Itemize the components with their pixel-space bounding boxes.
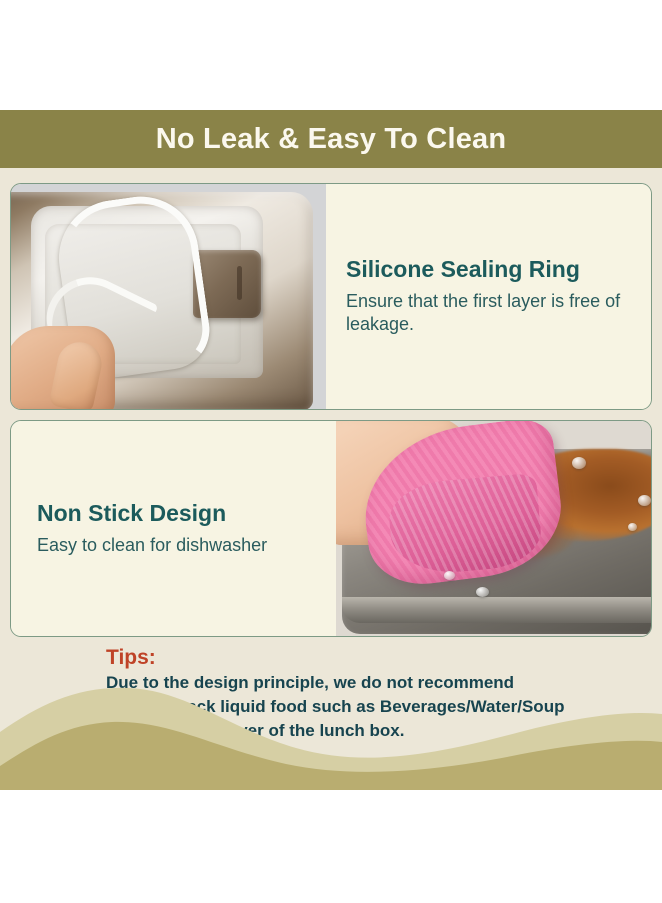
water-droplet-icon xyxy=(638,495,651,506)
water-droplet-icon xyxy=(572,457,586,469)
tips-section: Tips: Due to the design principle, we do… xyxy=(106,646,626,744)
header-band: No Leak & Easy To Clean xyxy=(0,110,662,168)
feature-title: Non Stick Design xyxy=(37,500,314,526)
water-droplet-icon xyxy=(476,587,489,597)
photo-non-stick-design xyxy=(336,421,651,636)
page-title: No Leak & Easy To Clean xyxy=(156,123,507,156)
tips-label: Tips: xyxy=(106,646,626,670)
feature-card-non-stick-design: Non Stick Design Easy to clean for dishw… xyxy=(10,420,652,637)
feature-text-non-stick-design: Non Stick Design Easy to clean for dishw… xyxy=(11,421,336,636)
tips-line-2: that you pack liquid food such as Bevera… xyxy=(106,695,626,719)
water-droplet-icon xyxy=(444,571,455,580)
product-infographic: No Leak & Easy To Clean Silicone Sealing… xyxy=(0,0,662,903)
feature-text-silicone-sealing-ring: Silicone Sealing Ring Ensure that the fi… xyxy=(326,184,651,409)
tips-line-3: on the bottom layer of the lunch box. xyxy=(106,719,626,743)
content-canvas: Silicone Sealing Ring Ensure that the fi… xyxy=(0,168,662,790)
feature-title: Silicone Sealing Ring xyxy=(346,256,629,282)
steel-rim-edge-shape xyxy=(342,597,651,623)
feature-card-silicone-sealing-ring: Silicone Sealing Ring Ensure that the fi… xyxy=(10,183,652,410)
feature-description: Easy to clean for dishwasher xyxy=(37,534,314,557)
photo-silicone-sealing-ring xyxy=(11,184,326,409)
tips-line-1: Due to the design principle, we do not r… xyxy=(106,671,626,695)
feature-description: Ensure that the first layer is free of l… xyxy=(346,290,629,337)
water-droplet-icon xyxy=(628,523,637,531)
